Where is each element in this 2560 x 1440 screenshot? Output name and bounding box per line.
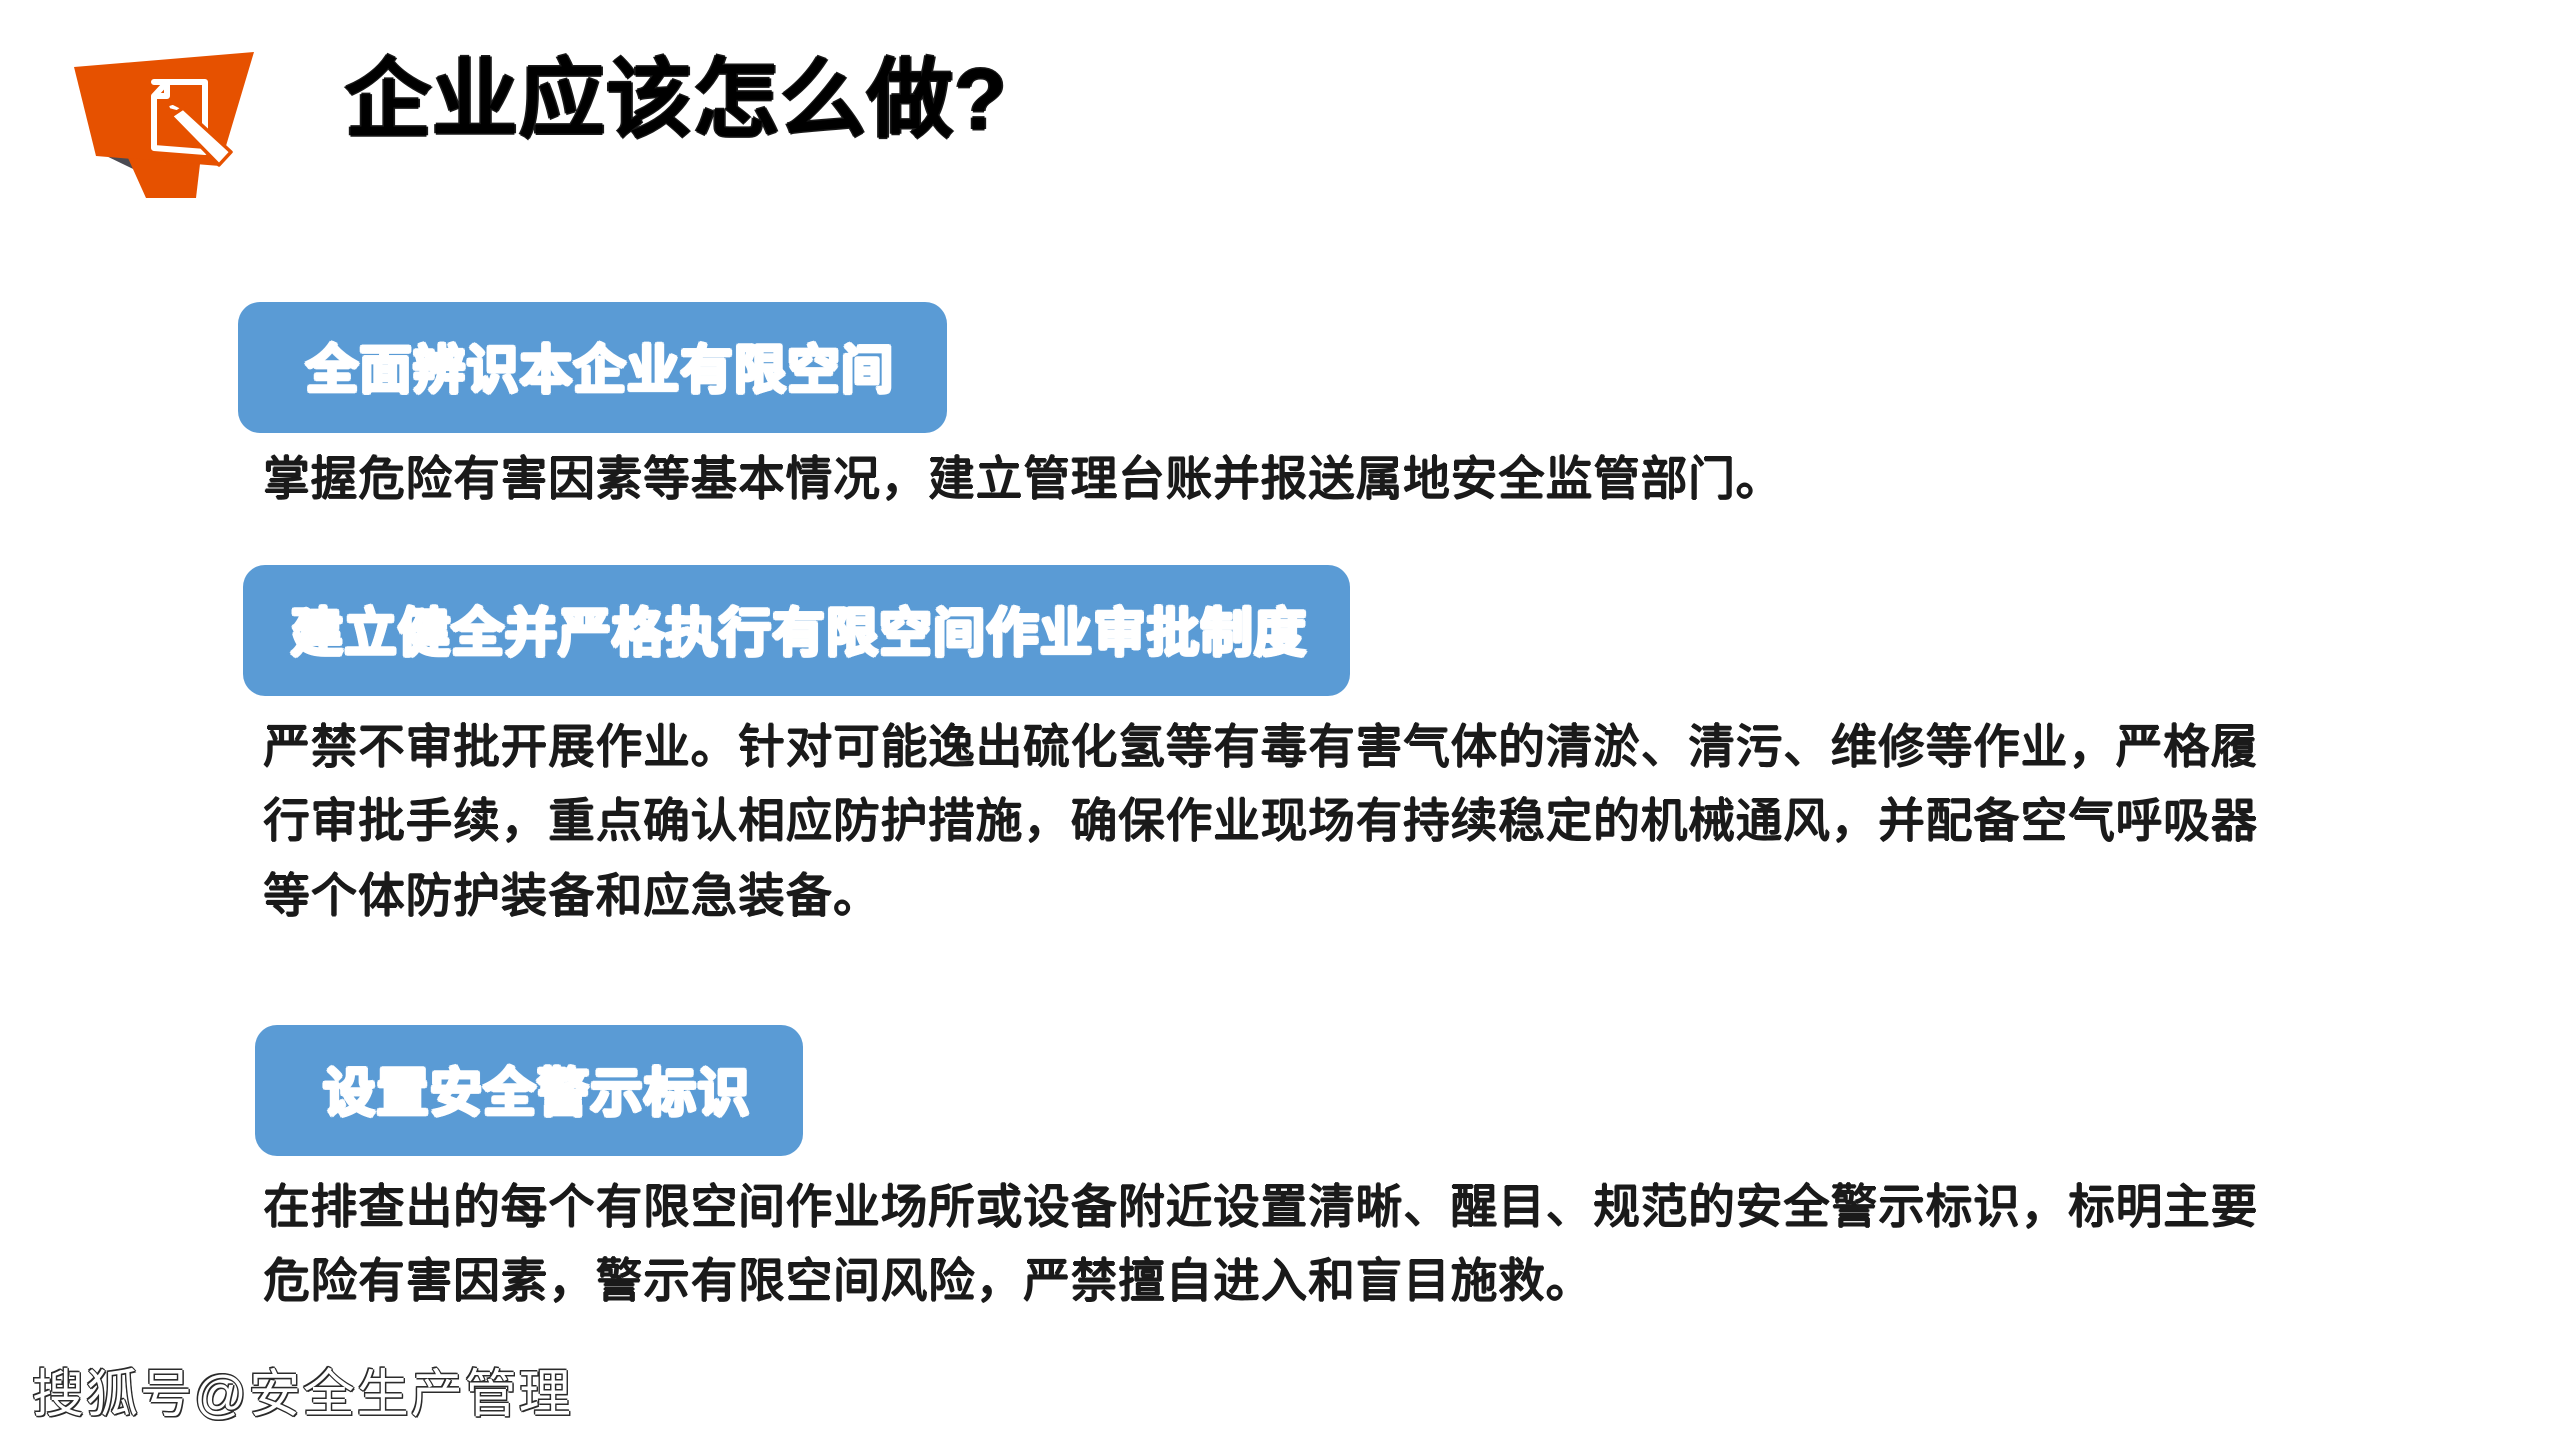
section-body-1: 掌握危险有害因素等基本情况，建立管理台账并报送属地安全监管部门。: [263, 442, 2323, 516]
page-title: 企业应该怎么做?: [345, 52, 1008, 148]
section-banner-2: 建立健全并严格执行有限空间作业审批制度: [243, 565, 1350, 696]
section-body-3: 在排查出的每个有限空间作业场所或设备附近设置清晰、醒目、规范的安全警示标识，标明…: [263, 1170, 2273, 1319]
monitor-document-pencil-icon: [68, 48, 283, 198]
watermark-label: 搜狐号@安全生产管理: [32, 1352, 573, 1427]
section-banner-1: 全面辨识本企业有限空间: [238, 302, 947, 433]
section-body-2: 严禁不审批开展作业。针对可能逸出硫化氢等有毒有害气体的清淤、清污、维修等作业，严…: [263, 710, 2273, 933]
section-banner-3: 设置安全警示标识: [255, 1025, 803, 1156]
slide-header: 企业应该怎么做?: [0, 0, 2560, 210]
